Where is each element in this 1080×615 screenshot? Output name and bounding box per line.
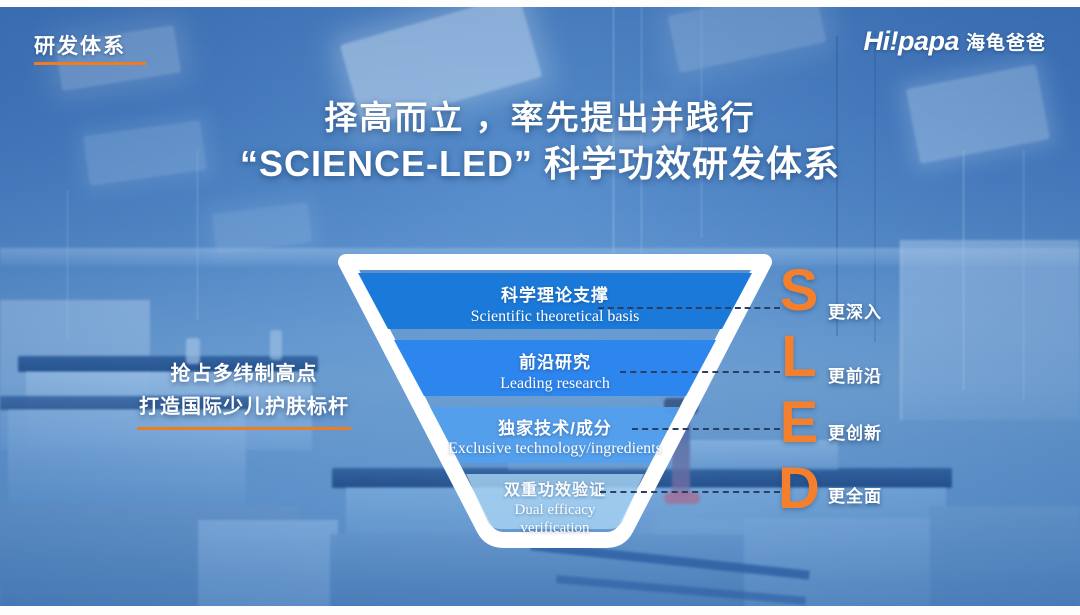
left-claim-line-1: 抢占多纬制高点	[134, 358, 354, 391]
benefit-label-2: 更前沿	[828, 362, 920, 387]
sled-acronym: S L E D	[776, 262, 822, 530]
funnel-svg	[330, 250, 780, 550]
title-line-2: “SCIENCE-LED” 科学功效研发体系	[0, 140, 1080, 188]
funnel-layer-4-shape	[466, 474, 644, 529]
slide-canvas: 研发体系 Hi!papa 海龟爸爸 择高而立 ，率先提出并践行 “SCIENCE…	[0, 0, 1080, 615]
brand-logo: Hi!papa 海龟爸爸	[863, 26, 1046, 57]
connector-dash-1	[598, 307, 780, 309]
funnel-layer-3-shape	[430, 407, 680, 463]
sled-letter-l: L	[776, 328, 822, 386]
section-tag-label: 研发体系	[34, 35, 126, 58]
connector-dash-4	[600, 491, 780, 493]
bottom-edge-strip	[0, 606, 1080, 615]
benefit-label-1: 更深入	[828, 298, 920, 323]
connector-dash-3	[632, 428, 780, 430]
funnel-layer-2-shape	[394, 340, 716, 396]
left-claims-underline	[137, 427, 351, 430]
left-claim-line-2: 打造国际少儿护肤标杆	[134, 391, 354, 424]
funnel-layer-1-shape	[358, 273, 752, 329]
title-line-1: 择高而立 ，率先提出并践行	[0, 96, 1080, 140]
brand-logo-mark: Hi!papa	[863, 26, 959, 57]
section-tag-underline	[34, 62, 146, 65]
section-tag: 研发体系	[34, 30, 126, 65]
connector-dash-2	[620, 371, 780, 373]
left-claims: 抢占多纬制高点 打造国际少儿护肤标杆	[134, 358, 354, 430]
sled-letter-d: D	[776, 460, 822, 518]
sled-letter-e: E	[776, 394, 822, 452]
sled-letter-s: S	[776, 262, 822, 320]
funnel-diagram: 科学理论支撑 Scientific theoretical basis 前沿研究…	[330, 250, 780, 550]
page-title: 择高而立 ，率先提出并践行 “SCIENCE-LED” 科学功效研发体系	[0, 96, 1080, 188]
benefit-label-3: 更创新	[828, 419, 920, 444]
benefit-label-4: 更全面	[828, 482, 920, 507]
brand-logo-chinese: 海龟爸爸	[966, 28, 1046, 55]
top-edge-strip	[0, 0, 1080, 7]
